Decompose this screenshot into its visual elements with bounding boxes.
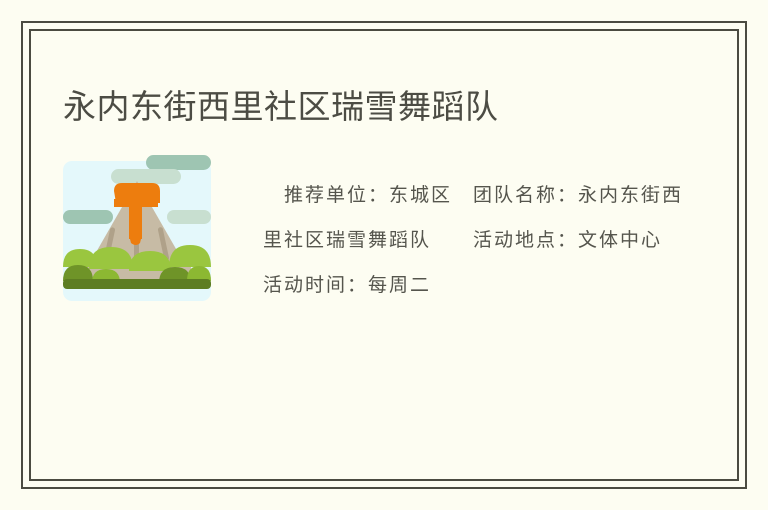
volcano-icon <box>63 155 211 301</box>
card-inner-frame: 永内东街西里社区瑞雪舞蹈队 <box>29 29 739 481</box>
card-outer-frame: 永内东街西里社区瑞雪舞蹈队 <box>21 21 747 489</box>
detail-description-text: 推荐单位：东城区 团队名称：永内东街西里社区瑞雪舞蹈队 活动地点：文体中心 活动… <box>263 173 693 308</box>
volcano-illustration <box>63 155 211 301</box>
page-title: 永内东街西里社区瑞雪舞蹈队 <box>63 87 499 127</box>
